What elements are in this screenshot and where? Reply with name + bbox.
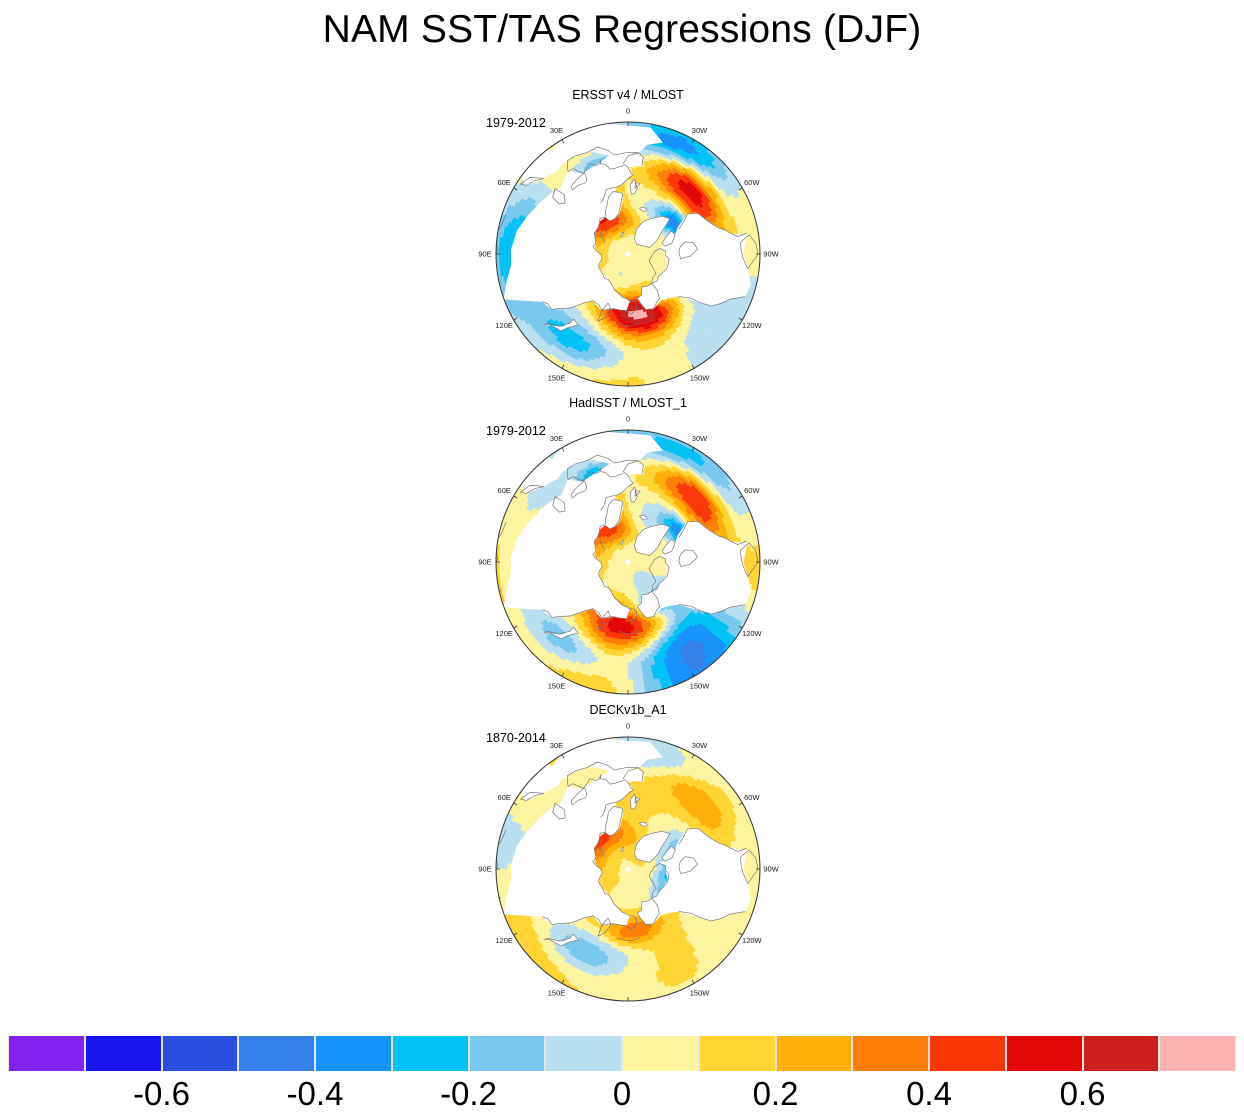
colorbar-bin: [776, 1036, 853, 1071]
longitude-label: 150W: [690, 988, 711, 997]
panel-title: HadISST / MLOST_1: [472, 396, 784, 411]
colorbar-bin: [1159, 1036, 1236, 1071]
longitude-label: 60W: [744, 178, 760, 187]
longitude-label: 90W: [763, 250, 779, 259]
colorbar-bin: [699, 1036, 776, 1071]
colorbar-bin: [85, 1036, 162, 1071]
colorbar-tick-label: 0.4: [906, 1074, 952, 1114]
longitude-label: 60W: [744, 486, 760, 495]
longitude-label: 150W: [690, 681, 711, 690]
colorbar-tick-label: -0.4: [287, 1074, 344, 1114]
colorbar-bin: [469, 1036, 546, 1071]
longitude-label: 0: [626, 722, 630, 731]
colorbar-bin: [392, 1036, 469, 1071]
colorbar-strip: [8, 1036, 1236, 1071]
longitude-label: 120E: [495, 321, 513, 330]
polar-map-ersst-mlost: 180150E120E90E60E30E030W60W90W120W150W: [472, 106, 784, 394]
longitude-label: 120W: [742, 321, 763, 330]
longitude-label: 60E: [497, 178, 510, 187]
panel-title: DECKv1b_A1: [472, 703, 784, 718]
colorbar: -0.6-0.4-0.200.20.40.6: [0, 1030, 1244, 1116]
colorbar-bin: [162, 1036, 239, 1071]
longitude-label: 0: [626, 107, 630, 116]
colorbar-bin: [545, 1036, 622, 1071]
longitude-label: 150E: [548, 681, 566, 690]
longitude-label: 30W: [692, 126, 708, 135]
figure-title: NAM SST/TAS Regressions (DJF): [0, 6, 1244, 54]
colorbar-tick-label: 0.2: [753, 1074, 799, 1114]
longitude-label: 30W: [692, 434, 708, 443]
panel-title: ERSST v4 / MLOST: [472, 88, 784, 103]
colorbar-bin: [622, 1036, 699, 1071]
colorbar-tick-label: 0.6: [1060, 1074, 1106, 1114]
colorbar-bin: [1006, 1036, 1083, 1071]
longitude-label: 90W: [763, 865, 779, 874]
longitude-label: 150E: [548, 373, 566, 382]
colorbar-bin: [238, 1036, 315, 1071]
longitude-label: 180: [622, 1008, 635, 1009]
longitude-label: 120E: [495, 936, 513, 945]
colorbar-bin: [852, 1036, 929, 1071]
polar-map-hadisst-mlost1: 180150E120E90E60E30E030W60W90W120W150W: [472, 414, 784, 702]
longitude-label: 30E: [550, 126, 563, 135]
longitude-label: 60W: [744, 793, 760, 802]
longitude-label: 30W: [692, 741, 708, 750]
longitude-label: 30E: [550, 434, 563, 443]
colorbar-tick-label: 0: [613, 1074, 631, 1114]
longitude-label: 120W: [742, 629, 763, 638]
colorbar-tick-label: -0.6: [133, 1074, 190, 1114]
colorbar-bin: [8, 1036, 85, 1071]
longitude-label: 90W: [763, 558, 779, 567]
longitude-label: 180: [622, 701, 635, 702]
longitude-label: 30E: [550, 741, 563, 750]
colorbar-bin: [315, 1036, 392, 1071]
longitude-label: 60E: [497, 486, 510, 495]
longitude-label: 150W: [690, 373, 711, 382]
longitude-label: 150E: [548, 988, 566, 997]
colorbar-bin: [1083, 1036, 1160, 1071]
longitude-label: 0: [626, 415, 630, 424]
polar-map-deckv1b-a1: 180150E120E90E60E30E030W60W90W120W150W: [472, 721, 784, 1009]
colorbar-tick-label: -0.2: [440, 1074, 497, 1114]
colorbar-bin: [929, 1036, 1006, 1071]
longitude-label: 120W: [742, 936, 763, 945]
longitude-label: 90E: [478, 250, 491, 259]
longitude-label: 60E: [497, 793, 510, 802]
longitude-label: 90E: [478, 558, 491, 567]
longitude-label: 180: [622, 393, 635, 394]
colorbar-tick-labels: -0.6-0.4-0.200.20.40.6: [8, 1074, 1236, 1114]
longitude-label: 120E: [495, 629, 513, 638]
longitude-label: 90E: [478, 865, 491, 874]
